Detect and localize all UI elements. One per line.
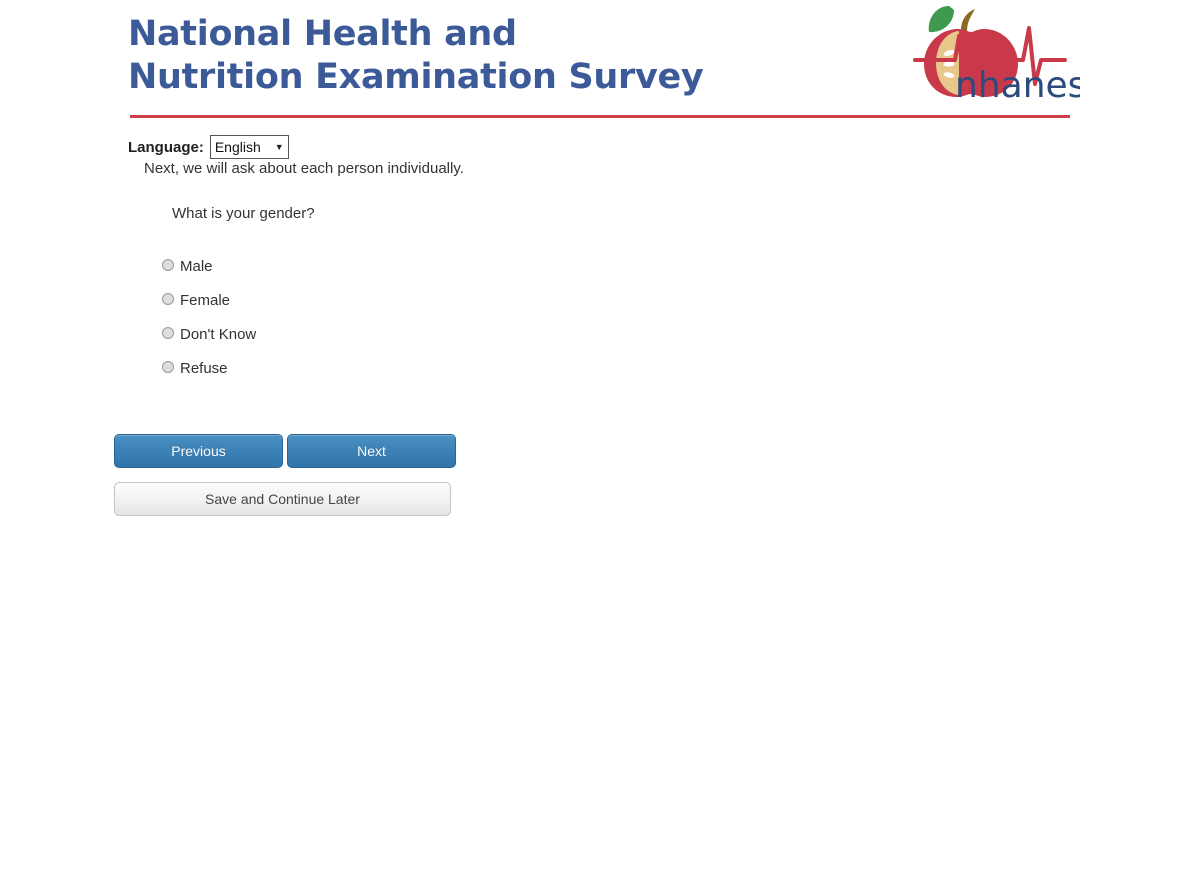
language-select[interactable]: English ▼ [210,135,289,159]
language-select-value: English [215,138,275,156]
option-label: Male [180,258,213,275]
option-dont-know[interactable]: Don't Know [162,317,256,351]
option-male[interactable]: Male [162,249,256,283]
option-label: Refuse [180,360,228,377]
language-selector-row: Language: English ▼ [128,135,289,159]
question-text: What is your gender? [172,205,315,222]
navigation-buttons: Previous Next [114,434,456,468]
option-refuse[interactable]: Refuse [162,351,256,385]
intro-text: Next, we will ask about each person indi… [144,160,464,177]
radio-icon[interactable] [162,293,174,305]
radio-icon[interactable] [162,259,174,271]
gender-options-group: Male Female Don't Know Refuse [162,249,256,385]
option-label: Female [180,292,230,309]
stem-icon [961,9,975,31]
next-button[interactable]: Next [287,434,456,468]
radio-icon[interactable] [162,327,174,339]
radio-icon[interactable] [162,361,174,373]
logo-wordmark: nhanes [955,65,1080,106]
page-title: National Health and Nutrition Examinatio… [128,13,703,99]
leaf-icon [929,6,954,32]
option-female[interactable]: Female [162,283,256,317]
header-divider [130,115,1070,118]
save-and-continue-later-button[interactable]: Save and Continue Later [114,482,451,516]
language-label: Language: [128,139,204,156]
option-label: Don't Know [180,326,256,343]
chevron-down-icon: ▼ [275,143,284,152]
page-header: National Health and Nutrition Examinatio… [0,0,1179,120]
previous-button[interactable]: Previous [114,434,283,468]
nhanes-logo: nhanes [905,0,1080,110]
